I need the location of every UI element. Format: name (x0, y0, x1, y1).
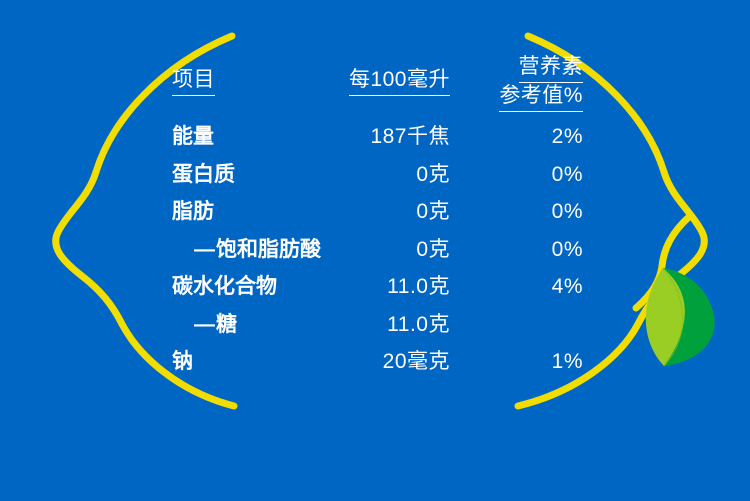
row-nrv-percent: 0% (443, 162, 583, 188)
header-nrv-line2-text: 参考值% (499, 82, 583, 112)
row-value: 11.0克 (250, 312, 450, 338)
nutrition-facts-panel: 项目 每100毫升 营养素 参考值% 能量187千焦2%蛋白质0克0%脂肪0克0… (0, 0, 750, 501)
row-nrv-percent: 0% (443, 237, 583, 263)
row-value: 0克 (250, 199, 450, 225)
row-label-text: 脂肪 (172, 200, 214, 223)
row-label-text: 糖 (216, 313, 237, 336)
nutrition-table: 项目 每100毫升 营养素 参考值% 能量187千焦2%蛋白质0克0%脂肪0克0… (0, 0, 750, 501)
header-nrv-line1-text: 营养素 (519, 53, 584, 83)
row-label-text: 蛋白质 (172, 163, 235, 186)
row-nrv-percent: 4% (443, 274, 583, 300)
row-nrv-percent: 0% (443, 199, 583, 225)
header-per-serving-text: 每100毫升 (349, 66, 450, 96)
row-value: 0克 (250, 237, 450, 263)
row-label-text: 能量 (172, 125, 214, 148)
row-nrv-percent: 1% (443, 349, 583, 375)
row-value: 0克 (250, 162, 450, 188)
sub-item-dash: — (194, 237, 216, 263)
header-item-text: 项目 (172, 66, 215, 96)
header-nrv-line2: 参考值% (443, 82, 583, 112)
header-nrv-line1: 营养素 (443, 53, 583, 83)
row-value: 11.0克 (250, 274, 450, 300)
row-value: 20毫克 (250, 349, 450, 375)
header-per-serving: 每100毫升 (250, 66, 450, 96)
row-nrv-percent: 2% (443, 124, 583, 150)
sub-item-dash: — (194, 312, 216, 338)
row-value: 187千焦 (250, 124, 450, 150)
row-label-text: 钠 (172, 350, 193, 373)
